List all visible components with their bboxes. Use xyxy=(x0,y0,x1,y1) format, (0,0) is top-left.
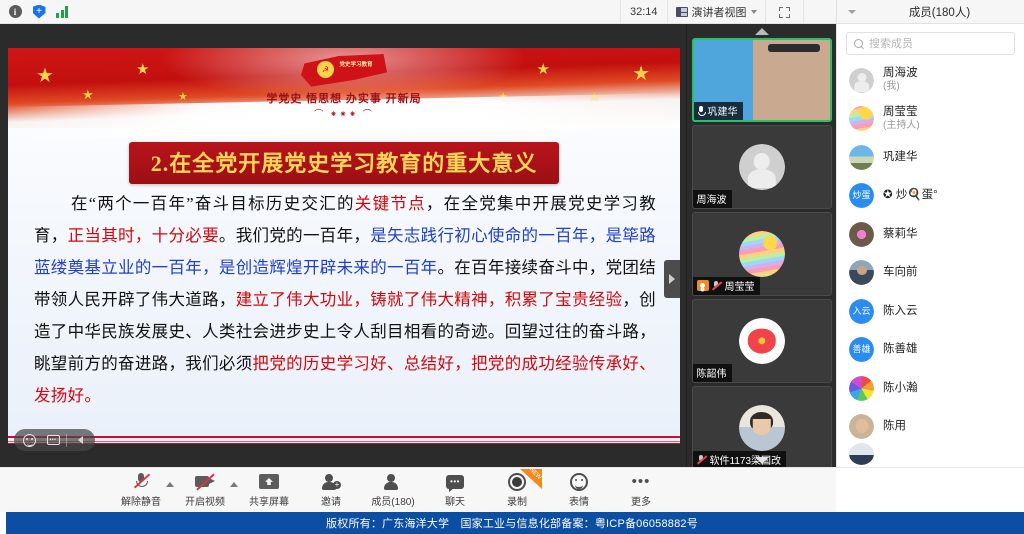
toolbar-label: 聊天 xyxy=(445,493,465,508)
top-bar: i 32:14 演讲者视图 成员(180人) xyxy=(0,0,1024,24)
avatar-image xyxy=(849,222,874,247)
avatar-image xyxy=(739,144,785,190)
avatar-image xyxy=(739,405,785,451)
footer-left-gap xyxy=(0,512,6,534)
avatar xyxy=(739,405,785,451)
participants-panel-header: 成员(180人) xyxy=(836,0,1024,24)
toolbar-item-emoji[interactable]: 表情 xyxy=(548,469,610,512)
slide-body-text: 在“两个一百年”奋斗目标历史交汇的关键节点，在全党集中开展党史学习教育，正当其时… xyxy=(34,188,656,412)
participant-role-tag: (我) xyxy=(883,81,918,94)
participant-video-feed xyxy=(753,40,829,120)
avatar xyxy=(849,145,874,170)
participant-row[interactable]: 炒蛋✪ 炒🍳蛋° xyxy=(837,177,1024,216)
emblem-label: 党史学习教育 xyxy=(339,62,373,69)
toolbar-item-mute[interactable]: 解除静音 xyxy=(110,469,172,512)
participants-count-title: 成员(180人) xyxy=(867,4,1024,20)
avatar-image: 炒蛋 xyxy=(849,183,874,208)
thumbnail-name-label: 周海波 xyxy=(697,191,727,206)
emoji-icon xyxy=(570,472,588,491)
avatar xyxy=(849,414,874,439)
participant-row[interactable]: 车向前 xyxy=(837,254,1024,293)
chevron-down-icon xyxy=(848,10,856,14)
avatar-image xyxy=(849,443,874,465)
toolbar-label: 邀请 xyxy=(321,493,341,508)
thumbnail-name-label: 陈韶伟 xyxy=(697,365,727,380)
participant-name-block: ✪ 炒🍳蛋° xyxy=(883,188,938,203)
chevron-down-icon xyxy=(751,10,757,14)
thumbnail-name-label: 巩建华 xyxy=(708,103,738,118)
meeting-status-group: 32:14 演讲者视图 xyxy=(620,0,804,24)
avatar: 入云 xyxy=(849,299,874,324)
toolbar-label: 更多 xyxy=(631,493,651,508)
participant-name-block: 陈善雄 xyxy=(883,342,918,357)
toolbar-item-more[interactable]: ••• 更多 xyxy=(610,469,672,512)
toolbar-label: 解除静音 xyxy=(121,493,161,508)
meeting-app-window: i 32:14 演讲者视图 成员(180人) xyxy=(0,0,1024,534)
view-mode-dropdown[interactable]: 演讲者视图 xyxy=(668,0,766,24)
toolbar-item-share-screen[interactable]: 共享屏幕 xyxy=(238,469,300,512)
host-icon xyxy=(697,280,709,291)
slide-floating-toolbar xyxy=(14,429,95,451)
video-thumbnail[interactable]: 周海波 xyxy=(692,125,832,209)
search-box[interactable] xyxy=(846,32,1015,55)
avatar xyxy=(849,376,874,401)
filmstrip-scroll-up-button[interactable] xyxy=(687,24,837,38)
invite-icon: + xyxy=(322,472,340,491)
avatar: 善雄 xyxy=(849,337,874,362)
browser-icon-group: i xyxy=(0,2,74,22)
participant-row[interactable] xyxy=(837,446,1024,462)
participant-row[interactable]: 陈用 xyxy=(837,408,1024,447)
participant-name: 周海波 xyxy=(883,66,918,81)
triangle-up-icon xyxy=(755,28,769,35)
site-footer: 版权所有：广东海洋大学 国家工业与信息化部备案：粤ICP备06058882号 xyxy=(0,512,1024,534)
layout-icon xyxy=(676,7,688,17)
collapse-toolbar-button[interactable] xyxy=(69,431,91,449)
slide-text-segment: 。我们党的一百年， xyxy=(219,226,370,245)
slide-footer-rule xyxy=(8,434,680,444)
slide-title-wrap: 2.在全党开展党史学习教育的重大意义 xyxy=(8,142,680,184)
participant-name: 陈入云 xyxy=(883,304,918,319)
toolbar-item-participants[interactable]: 成员(180) xyxy=(362,469,424,512)
view-mode-label: 演讲者视图 xyxy=(692,4,747,20)
avatar-image xyxy=(849,414,874,439)
toolbar-item-record[interactable]: NEW 录制 xyxy=(486,469,548,512)
thumbnail-name-badge: 周莹莹 xyxy=(693,277,760,295)
signal-bars-icon[interactable] xyxy=(52,2,74,22)
meeting-toolbar: 解除静音 开启视频 共享屏幕 + 邀请 成员(180) xyxy=(0,467,836,512)
slide-title: 2.在全党开展党史学习教育的重大意义 xyxy=(129,142,560,184)
participant-row[interactable]: 巩建华 xyxy=(837,138,1024,177)
share-screen-icon xyxy=(259,472,279,491)
slide-text-segment: 建立了伟大功业，铸就了伟大精神，积累了宝贵经验 xyxy=(236,290,623,309)
chevron-right-icon xyxy=(669,274,675,284)
avatar xyxy=(849,106,874,131)
search-input[interactable] xyxy=(869,38,1007,50)
meeting-stage: ★ ★ ★ ★ ★ ★ ★ ★ ☭ 党史学习教育 学党史 悟思想 办实事 开新局… xyxy=(0,24,836,467)
video-filmstrip: 巩建华周海波周莹莹陈韶伟软件1173梁国改 xyxy=(686,24,836,467)
participant-role-tag: (主持人) xyxy=(883,120,920,133)
chat-icon xyxy=(446,472,464,491)
participant-row[interactable]: 陈小瀚 xyxy=(837,369,1024,408)
participant-name-block: 巩建华 xyxy=(883,150,918,165)
toolbar-item-invite[interactable]: + 邀请 xyxy=(300,469,362,512)
participant-row[interactable]: 善雄陈善雄 xyxy=(837,331,1024,370)
glasses-shape xyxy=(768,44,820,52)
shared-screen-slide[interactable]: ★ ★ ★ ★ ★ ★ ★ ★ ☭ 党史学习教育 学党史 悟思想 办实事 开新局… xyxy=(8,48,680,444)
participant-name-block: 蔡莉华 xyxy=(883,227,918,242)
toolbar-label: 开启视频 xyxy=(185,493,225,508)
participant-row[interactable]: 周莹莹(主持人) xyxy=(837,100,1024,139)
avatar-image xyxy=(849,106,874,131)
shield-icon[interactable] xyxy=(28,2,50,22)
avatar-image: 善雄 xyxy=(849,337,874,362)
new-badge: NEW xyxy=(520,469,542,489)
chevron-left-icon xyxy=(78,436,83,444)
fullscreen-icon xyxy=(779,7,790,18)
more-icon: ••• xyxy=(632,472,651,491)
avatar xyxy=(849,68,874,93)
avatar-image xyxy=(849,376,874,401)
participants-search-wrap xyxy=(837,24,1024,61)
filmstrip-collapse-handle[interactable] xyxy=(664,260,680,298)
triangle-down-icon xyxy=(755,457,769,464)
participant-name: 陈善雄 xyxy=(883,342,918,357)
participant-name-block: 陈小瀚 xyxy=(883,381,918,396)
toolbar-label: 共享屏幕 xyxy=(249,493,289,508)
slide-slogan: 学党史 悟思想 办实事 开新局 xyxy=(8,90,680,106)
hammer-sickle-icon: ☭ xyxy=(317,61,334,78)
thumbnail-name-badge: 陈韶伟 xyxy=(693,364,732,382)
participant-name: 车向前 xyxy=(883,265,918,280)
slide-text-segment: 正当其时，十分必要 xyxy=(68,226,219,245)
thumbnail-name-badge: 巩建华 xyxy=(694,102,743,120)
reaction-button[interactable] xyxy=(18,431,40,449)
avatar xyxy=(849,222,874,247)
participant-name: 周莹莹 xyxy=(883,105,920,120)
divider xyxy=(66,434,67,447)
chat-icon xyxy=(47,435,60,445)
camera-off-icon xyxy=(195,472,215,491)
participant-name: 陈小瀚 xyxy=(883,381,918,396)
avatar xyxy=(739,231,785,277)
toolbar-label: 录制 xyxy=(507,493,527,508)
avatar-image xyxy=(849,68,874,93)
mic-on-icon xyxy=(698,106,705,116)
info-icon[interactable]: i xyxy=(4,2,26,22)
quick-chat-button[interactable] xyxy=(42,431,64,449)
avatar-image xyxy=(739,318,785,364)
participants-panel: 周海波(我)周莹莹(主持人)巩建华炒蛋✪ 炒🍳蛋°蔡莉华车向前入云陈入云善雄陈善… xyxy=(836,24,1024,467)
filmstrip-scroll-down-button[interactable] xyxy=(687,453,837,467)
mic-muted-icon xyxy=(134,472,148,491)
avatar-image xyxy=(849,260,874,285)
participant-name-block: 周莹莹(主持人) xyxy=(883,105,920,133)
party-emblem: ☭ 党史学习教育 学党史 悟思想 办实事 开新局 ⌒ ⁕⁕⁕ ⌒ xyxy=(8,54,680,120)
participant-row[interactable]: 入云陈入云 xyxy=(837,292,1024,331)
participants-list[interactable]: 周海波(我)周莹莹(主持人)巩建华炒蛋✪ 炒🍳蛋°蔡莉华车向前入云陈入云善雄陈善… xyxy=(837,61,1024,465)
toolbar-label: 表情 xyxy=(569,493,589,508)
meeting-timer: 32:14 xyxy=(620,0,668,24)
participants-icon xyxy=(384,472,402,491)
slide-text-segment: 在“两个一百年”奋斗目标历史交汇的 xyxy=(70,194,355,213)
panel-collapse-button[interactable] xyxy=(837,10,867,14)
mic-muted-icon xyxy=(712,281,722,291)
avatar-image xyxy=(849,145,874,170)
participant-row[interactable]: 蔡莉华 xyxy=(837,215,1024,254)
avatar: 炒蛋 xyxy=(849,183,874,208)
thumbnail-name-badge: 周海波 xyxy=(693,190,732,208)
avatar xyxy=(849,260,874,285)
slide-text-segment: 关键节点 xyxy=(355,194,426,213)
slide-banner: ★ ★ ★ ★ ★ ★ ★ ★ ☭ 党史学习教育 学党史 悟思想 办实事 开新局… xyxy=(8,48,680,128)
participant-name: 蔡莉华 xyxy=(883,227,918,242)
smile-icon xyxy=(23,434,36,447)
video-thumbnail[interactable]: 周莹莹 xyxy=(692,212,832,296)
toolbar-item-video[interactable]: 开启视频 xyxy=(174,469,236,512)
participant-row[interactable]: 周海波(我) xyxy=(837,61,1024,100)
new-badge-label: NEW xyxy=(528,469,542,481)
video-thumbnail[interactable]: 巩建华 xyxy=(692,38,832,122)
fullscreen-button[interactable] xyxy=(766,0,804,24)
avatar xyxy=(849,443,874,465)
participant-name-block: 陈用 xyxy=(883,419,906,434)
thumbnail-name-label: 周莹莹 xyxy=(725,278,755,293)
participant-name-block: 车向前 xyxy=(883,265,918,280)
video-thumbnail[interactable]: 陈韶伟 xyxy=(692,299,832,383)
search-icon xyxy=(854,39,864,49)
avatar-image: 入云 xyxy=(849,299,874,324)
toolbar-item-chat[interactable]: 聊天 xyxy=(424,469,486,512)
participant-name-block: 周海波(我) xyxy=(883,66,918,94)
avatar xyxy=(739,144,785,190)
decorative-arcs: ⌒ ⁕⁕⁕ ⌒ xyxy=(8,107,680,120)
avatar xyxy=(739,318,785,364)
participant-name: 巩建华 xyxy=(883,150,918,165)
participant-name-block: 陈入云 xyxy=(883,304,918,319)
participant-name: 陈用 xyxy=(883,419,906,434)
toolbar-label: 成员(180) xyxy=(371,493,414,508)
participant-name: ✪ 炒🍳蛋° xyxy=(883,188,938,203)
toolbar-right-filler xyxy=(836,467,1024,512)
avatar-image xyxy=(739,231,785,277)
